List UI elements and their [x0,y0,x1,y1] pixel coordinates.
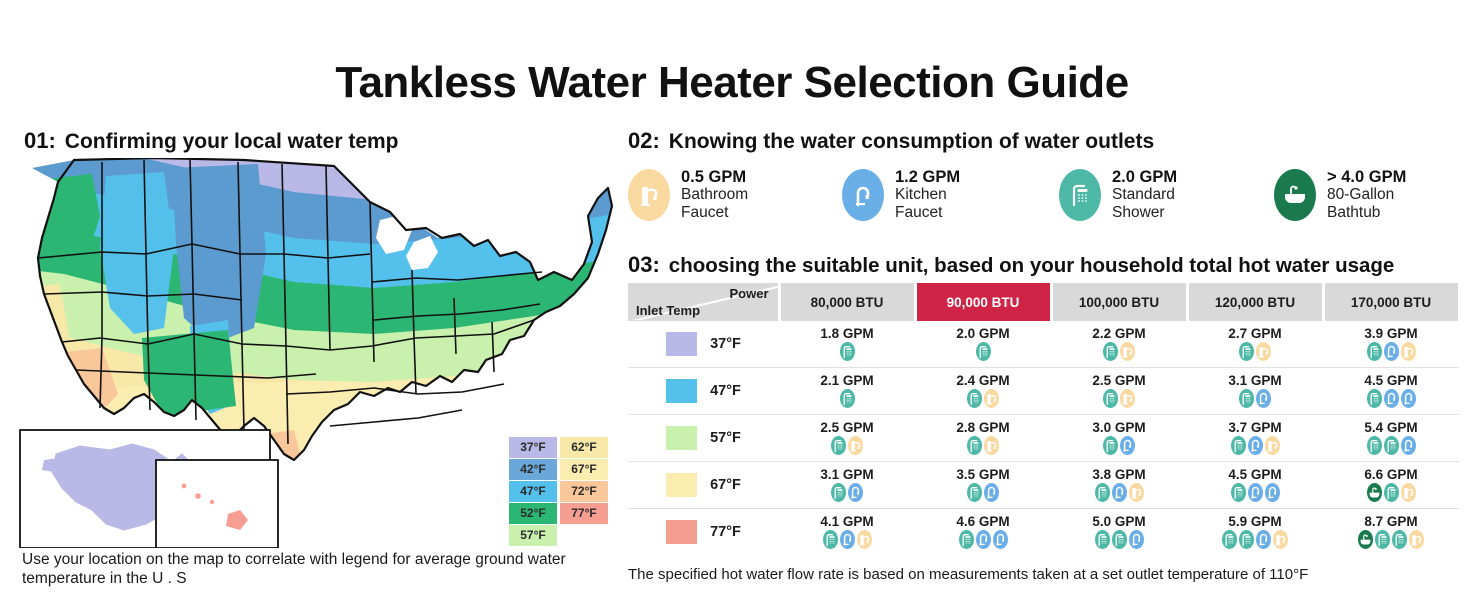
fixture-icon-group [1051,483,1187,502]
table-footnote: The specified hot water flow rate is bas… [628,566,1464,583]
flow-rate-cell[interactable]: 8.7 GPM [1323,509,1459,556]
legend-cell: 77°F [560,503,608,524]
bathroom-icon [1401,342,1416,361]
flow-rate-cell[interactable]: 2.8 GPM [915,415,1051,462]
bathtub-icon [1367,483,1382,502]
kitchen-icon [1248,483,1263,502]
shower-icon [1103,342,1118,361]
shower-icon [823,530,838,549]
fixture-name: Standard Shower [1112,186,1177,221]
kitchen-icon [848,483,863,502]
shower-icon [840,389,855,408]
flow-rate-value: 2.8 GPM [915,421,1051,435]
shower-icon [1068,181,1092,209]
fixture-icon-group [1051,389,1187,408]
fixture-list: 0.5 GPM Bathroom Faucet 1.2 GPM Kitchen … [628,166,1458,238]
section-01-heading: 01: Confirming your local water temp [24,128,399,154]
flow-rate-value: 2.4 GPM [915,374,1051,388]
legend-cell: 37°F [509,437,557,458]
fixture-icon-group [1323,389,1459,408]
flow-rate-value: 2.5 GPM [779,421,915,435]
shower-icon [840,342,855,361]
fixture-icon-group [1323,483,1459,502]
shower-icon [1095,483,1110,502]
flow-rate-value: 3.0 GPM [1051,421,1187,435]
shower-icon [831,483,846,502]
shower-icon [1239,389,1254,408]
flow-rate-cell[interactable]: 3.5 GPM [915,462,1051,509]
fixture-icon-group [779,483,915,502]
fixture-icon-group [1323,530,1459,549]
kitchen-faucet-icon [851,181,875,209]
fixture-name: Kitchen Faucet [895,186,960,221]
kitchen-faucet-badge [842,169,884,221]
column-header-120000btu[interactable]: 120,000 BTU [1187,283,1323,321]
kitchen-icon [1256,389,1271,408]
table-row: 67°F3.1 GPM3.5 GPM3.8 GPM4.5 GPM6.6 GPM [628,462,1459,509]
kitchen-icon [1112,483,1127,502]
map-caption: Use your location on the map to correlat… [22,550,602,588]
fixture-kitchen-faucet: 1.2 GPM Kitchen Faucet [842,168,960,221]
flow-rate-value: 3.9 GPM [1323,327,1459,341]
section-03-text: choosing the suitable unit, based on you… [669,254,1395,278]
flow-rate-value: 2.1 GPM [779,374,915,388]
fixture-gpm: 2.0 GPM [1112,168,1177,186]
fixture-icon-group [1187,342,1323,361]
flow-rate-value: 5.9 GPM [1187,515,1323,529]
bathroom-icon [1120,342,1135,361]
flow-rate-value: 6.6 GPM [1323,468,1459,482]
bathroom-icon [1273,530,1288,549]
table-header: Power Inlet Temp 80,000 BTU 90,000 BTU 1… [628,283,1459,321]
bathroom-icon [984,389,999,408]
flow-rate-cell[interactable]: 4.1 GPM [779,509,915,556]
column-header-170000btu[interactable]: 170,000 BTU [1323,283,1459,321]
flow-rate-cell[interactable]: 3.9 GPM [1323,321,1459,368]
shower-icon [1367,436,1382,455]
kitchen-icon [1129,530,1144,549]
flow-rate-value: 5.4 GPM [1323,421,1459,435]
section-02-number: 02: [628,128,660,154]
table-row: 57°F2.5 GPM2.8 GPM3.0 GPM3.7 GPM5.4 GPM [628,415,1459,462]
fixture-icon-group [915,389,1051,408]
flow-rate-cell[interactable]: 2.7 GPM [1187,321,1323,368]
map-legend: 37°F 42°F 47°F 52°F 57°F 62°F 67°F 72°F … [509,437,608,546]
fixture-icon-group [779,436,915,455]
table-corner-power-label: Power [729,286,768,301]
flow-rate-value: 2.7 GPM [1187,327,1323,341]
fixture-icon-group [915,436,1051,455]
fixture-icon-group [779,342,915,361]
kitchen-icon [1384,342,1399,361]
flow-rate-value: 3.5 GPM [915,468,1051,482]
inlet-temp-label: 37°F [710,336,741,352]
bathroom-icon [1409,530,1424,549]
fixture-icon-group [779,389,915,408]
flow-rate-cell[interactable]: 2.1 GPM [779,368,915,415]
shower-icon [959,530,974,549]
kitchen-icon [1248,436,1263,455]
fixture-icon-group [1187,530,1323,549]
kitchen-icon [840,530,855,549]
legend-cell: 57°F [509,525,557,546]
inlet-temp-label: 67°F [710,477,741,493]
fixture-icon-group [1187,483,1323,502]
inlet-temp-label: 47°F [710,383,741,399]
flow-rate-value: 4.1 GPM [779,515,915,529]
flow-rate-cell[interactable]: 2.5 GPM [779,415,915,462]
kitchen-icon [1120,436,1135,455]
bathroom-icon [1129,483,1144,502]
shower-icon [967,389,982,408]
table-row: 77°F4.1 GPM4.6 GPM5.0 GPM5.9 GPM8.7 GPM [628,509,1459,556]
inlet-temp-cell: 37°F [628,321,779,368]
flow-rate-cell[interactable]: 3.1 GPM [1187,368,1323,415]
kitchen-icon [976,530,991,549]
bathroom-icon [1401,483,1416,502]
kitchen-icon [1256,530,1271,549]
flow-rate-cell[interactable]: 2.0 GPM [915,321,1051,368]
legend-cell: 72°F [560,481,608,502]
fixture-icon-group [1187,436,1323,455]
column-header-100000btu[interactable]: 100,000 BTU [1051,283,1187,321]
flow-rate-cell[interactable]: 4.6 GPM [915,509,1051,556]
flow-rate-cell[interactable]: 5.0 GPM [1051,509,1187,556]
bathroom-icon [1265,436,1280,455]
column-header-90000btu[interactable]: 90,000 BTU [915,283,1051,321]
flow-rate-cell[interactable]: 3.0 GPM [1051,415,1187,462]
flow-rate-cell[interactable]: 3.1 GPM [779,462,915,509]
inlet-temp-cell: 57°F [628,415,779,462]
legend-cell: 67°F [560,459,608,480]
shower-icon [1239,342,1254,361]
shower-icon [1367,342,1382,361]
bathroom-icon [1256,342,1271,361]
inlet-temp-label: 77°F [710,524,741,540]
kitchen-icon [1401,389,1416,408]
section-01-number: 01: [24,128,56,154]
inlet-temp-cell: 77°F [628,509,779,556]
bathroom-icon [857,530,872,549]
shower-icon [1375,530,1390,549]
legend-cell: 42°F [509,459,557,480]
inlet-temp-cell: 47°F [628,368,779,415]
legend-cell: 52°F [509,503,557,524]
flow-rate-cell[interactable]: 1.8 GPM [779,321,915,368]
column-header-80000btu[interactable]: 80,000 BTU [779,283,915,321]
shower-icon [967,483,982,502]
shower-icon [831,436,846,455]
bathtub-badge [1274,169,1316,221]
kitchen-icon [993,530,1008,549]
temp-color-swatch [666,520,697,544]
table-body: 37°F1.8 GPM2.0 GPM2.2 GPM2.7 GPM3.9 GPM4… [628,321,1459,555]
flow-rate-value: 2.2 GPM [1051,327,1187,341]
section-03-heading: 03: choosing the suitable unit, based on… [628,252,1394,278]
flow-rate-cell[interactable]: 2.2 GPM [1051,321,1187,368]
infographic-page: Tankless Water Heater Selection Guide 01… [0,0,1464,600]
bathroom-faucet-icon [637,181,661,209]
fixture-icon-group [1323,342,1459,361]
shower-badge [1059,169,1101,221]
flow-rate-value: 4.6 GPM [915,515,1051,529]
section-02-heading: 02: Knowing the water consumption of wat… [628,128,1154,154]
kitchen-icon [1384,389,1399,408]
shower-icon [976,342,991,361]
selection-table: Power Inlet Temp 80,000 BTU 90,000 BTU 1… [628,283,1461,555]
shower-icon [1231,483,1246,502]
flow-rate-value: 2.5 GPM [1051,374,1187,388]
fixture-text: 1.2 GPM Kitchen Faucet [895,168,960,221]
kitchen-icon [1401,436,1416,455]
shower-icon [1103,389,1118,408]
flow-rate-cell[interactable]: 4.5 GPM [1323,368,1459,415]
table-row: 37°F1.8 GPM2.0 GPM2.2 GPM2.7 GPM3.9 GPM [628,321,1459,368]
bathroom-icon [848,436,863,455]
flow-rate-value: 2.0 GPM [915,327,1051,341]
shower-icon [1222,530,1237,549]
flow-rate-value: 5.0 GPM [1051,515,1187,529]
fixture-icon-group [1187,389,1323,408]
fixture-text: 2.0 GPM Standard Shower [1112,168,1177,221]
shower-icon [1384,483,1399,502]
legend-column-right: 62°F 67°F 72°F 77°F [560,437,608,546]
fixture-icon-group [1051,342,1187,361]
shower-icon [1231,436,1246,455]
fixture-icon-group [1051,436,1187,455]
fixture-gpm: 1.2 GPM [895,168,960,186]
legend-cell: 47°F [509,481,557,502]
fixture-bathtub: > 4.0 GPM 80-Gallon Bathtub [1274,168,1406,221]
flow-rate-value: 1.8 GPM [779,327,915,341]
table-row: 47°F2.1 GPM2.4 GPM2.5 GPM3.1 GPM4.5 GPM [628,368,1459,415]
shower-icon [967,436,982,455]
fixture-standard-shower: 2.0 GPM Standard Shower [1059,168,1177,221]
legend-cell: 62°F [560,437,608,458]
flow-rate-cell[interactable]: 5.9 GPM [1187,509,1323,556]
flow-rate-value: 3.1 GPM [1187,374,1323,388]
bathroom-icon [984,436,999,455]
flow-rate-cell[interactable]: 3.8 GPM [1051,462,1187,509]
bathtub-icon [1282,182,1308,208]
hawaii-inset [156,460,278,548]
shower-icon [1367,389,1382,408]
shower-icon [1095,530,1110,549]
bathtub-icon [1358,530,1373,549]
bathroom-faucet-badge [628,169,670,221]
section-03-number: 03: [628,252,660,278]
temp-color-swatch [666,426,697,450]
section-02-text: Knowing the water consumption of water o… [669,130,1154,154]
fixture-text: 0.5 GPM Bathroom Faucet [681,168,748,221]
flow-rate-cell[interactable]: 5.4 GPM [1323,415,1459,462]
fixture-icon-group [1051,530,1187,549]
shower-icon [1112,530,1127,549]
flow-rate-cell[interactable]: 6.6 GPM [1323,462,1459,509]
shower-icon [1392,530,1407,549]
bathroom-icon [1120,389,1135,408]
kitchen-icon [1265,483,1280,502]
flow-rate-value: 4.5 GPM [1323,374,1459,388]
fixture-name: Bathroom Faucet [681,186,748,221]
temp-color-swatch [666,379,697,403]
flow-rate-value: 3.8 GPM [1051,468,1187,482]
flow-rate-value: 8.7 GPM [1323,515,1459,529]
shower-icon [1384,436,1399,455]
fixture-text: > 4.0 GPM 80-Gallon Bathtub [1327,168,1406,221]
fixture-icon-group [1323,436,1459,455]
fixture-icon-group [779,530,915,549]
page-title: Tankless Water Heater Selection Guide [0,58,1464,108]
section-01-text: Confirming your local water temp [65,130,399,154]
table-corner-inlet-label: Inlet Temp [636,303,700,318]
flow-rate-value: 3.1 GPM [779,468,915,482]
shower-icon [1239,530,1254,549]
temp-color-swatch [666,332,697,356]
flow-rate-cell[interactable]: 2.4 GPM [915,368,1051,415]
inlet-temp-cell: 67°F [628,462,779,509]
fixture-gpm: > 4.0 GPM [1327,168,1406,186]
shower-icon [1103,436,1118,455]
flow-rate-cell[interactable]: 4.5 GPM [1187,462,1323,509]
fixture-gpm: 0.5 GPM [681,168,748,186]
flow-rate-value: 3.7 GPM [1187,421,1323,435]
flow-rate-cell[interactable]: 3.7 GPM [1187,415,1323,462]
fixture-icon-group [915,342,1051,361]
legend-column-left: 37°F 42°F 47°F 52°F 57°F [509,437,557,546]
flow-rate-cell[interactable]: 2.5 GPM [1051,368,1187,415]
fixture-bathroom-faucet: 0.5 GPM Bathroom Faucet [628,168,748,221]
kitchen-icon [984,483,999,502]
table-header-row: Power Inlet Temp 80,000 BTU 90,000 BTU 1… [628,283,1459,321]
table-corner-cell: Power Inlet Temp [628,283,779,321]
flow-rate-value: 4.5 GPM [1187,468,1323,482]
fixture-icon-group [915,483,1051,502]
fixture-name: 80-Gallon Bathtub [1327,186,1406,221]
inlet-temp-label: 57°F [710,430,741,446]
fixture-icon-group [915,530,1051,549]
temp-color-swatch [666,473,697,497]
